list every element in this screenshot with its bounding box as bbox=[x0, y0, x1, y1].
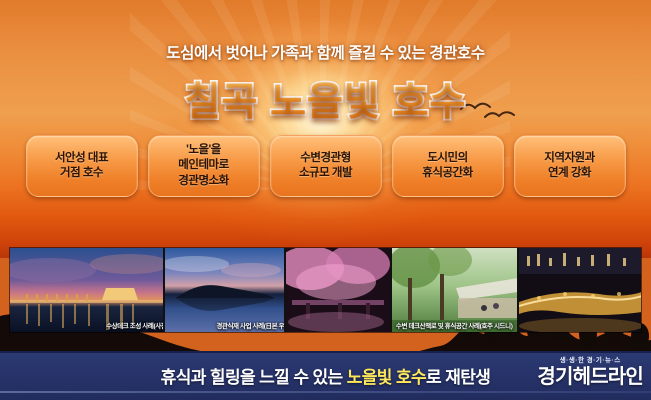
poster-root: 도심에서 벗어나 가족과 함께 즐길 수 있는 경관호수 칠곡 노을빛 호수 칠… bbox=[0, 0, 651, 400]
photo-1-image bbox=[10, 248, 163, 332]
sunset-sky-background bbox=[0, 0, 651, 258]
footer-tagline: 휴식과 힐링을 느낄 수 있는 노을빛 호수로 재탄생 bbox=[0, 363, 651, 388]
subheadline: 도심에서 벗어나 가족과 함께 즐길 수 있는 경관호수 bbox=[0, 41, 651, 63]
photo-4-deck-walkway[interactable]: 수변 데크산책로 및 휴식공간 사례(호주 시드니) bbox=[392, 248, 517, 332]
key-point-2-label: '노을'을 메인테마로 경관명소화 bbox=[178, 143, 228, 189]
footer-bar: 휴식과 힐링을 느낄 수 있는 노을빛 호수로 재탄생 생·생·한 경·기·뉴·… bbox=[0, 351, 651, 400]
photo-2-image bbox=[165, 248, 284, 332]
page-title: 칠곡 노을빛 호수 칠곡 노을빛 호수 bbox=[0, 71, 651, 127]
photo-4-image bbox=[392, 248, 517, 332]
photo-strip: 수상데크 조성 사례(사진 수상카페) 경관식재 사업 사례(日본 우에하벤/야… bbox=[10, 248, 641, 332]
footer-tagline-pre: 휴식과 힐링을 느낄 수 있는 bbox=[161, 368, 347, 387]
footer-tagline-post: 로 재탄생 bbox=[426, 368, 490, 387]
key-point-5-label: 지역자원과 연계 강화 bbox=[544, 151, 594, 182]
key-point-5[interactable]: 지역자원과 연계 강화 bbox=[514, 135, 626, 197]
photo-4-caption: 수변 데크산책로 및 휴식공간 사례(호주 시드니) bbox=[392, 321, 517, 332]
photo-3-cherry-blossom[interactable] bbox=[286, 248, 389, 332]
page-title-fill: 칠곡 노을빛 호수 bbox=[0, 71, 651, 127]
key-point-1[interactable]: 서안성 대표 거점 호수 bbox=[26, 135, 138, 197]
footer-divider bbox=[0, 391, 651, 393]
photo-3-image bbox=[286, 248, 389, 332]
key-point-4-label: 도시민의 휴식공간화 bbox=[422, 151, 472, 182]
key-point-1-label: 서안성 대표 거점 호수 bbox=[55, 151, 108, 182]
photo-5-night-waterfront[interactable] bbox=[519, 248, 641, 332]
footer-tagline-highlight: 노을빛 호수 bbox=[347, 368, 426, 387]
key-point-3-label: 수변경관형 소규모 개발 bbox=[299, 151, 352, 182]
key-point-3[interactable]: 수변경관형 소규모 개발 bbox=[270, 135, 382, 197]
photo-2-caption: 경관식재 사업 사례(日본 우에하벤/야오모리 히로사키 벚꽃) bbox=[165, 321, 284, 332]
photo-1-water-deck[interactable]: 수상데크 조성 사례(사진 수상카페) bbox=[10, 248, 163, 332]
key-points-row: 서안성 대표 거점 호수 '노을'을 메인테마로 경관명소화 수변경관형 소규모… bbox=[0, 135, 651, 199]
photo-2-lake-reflection[interactable]: 경관식재 사업 사례(日본 우에하벤/야오모리 히로사키 벚꽃) bbox=[165, 248, 284, 332]
photo-5-image bbox=[519, 248, 641, 332]
key-point-4[interactable]: 도시민의 휴식공간화 bbox=[392, 135, 504, 197]
photo-1-caption: 수상데크 조성 사례(사진 수상카페) bbox=[10, 321, 163, 332]
key-point-2[interactable]: '노을'을 메인테마로 경관명소화 bbox=[148, 135, 260, 197]
